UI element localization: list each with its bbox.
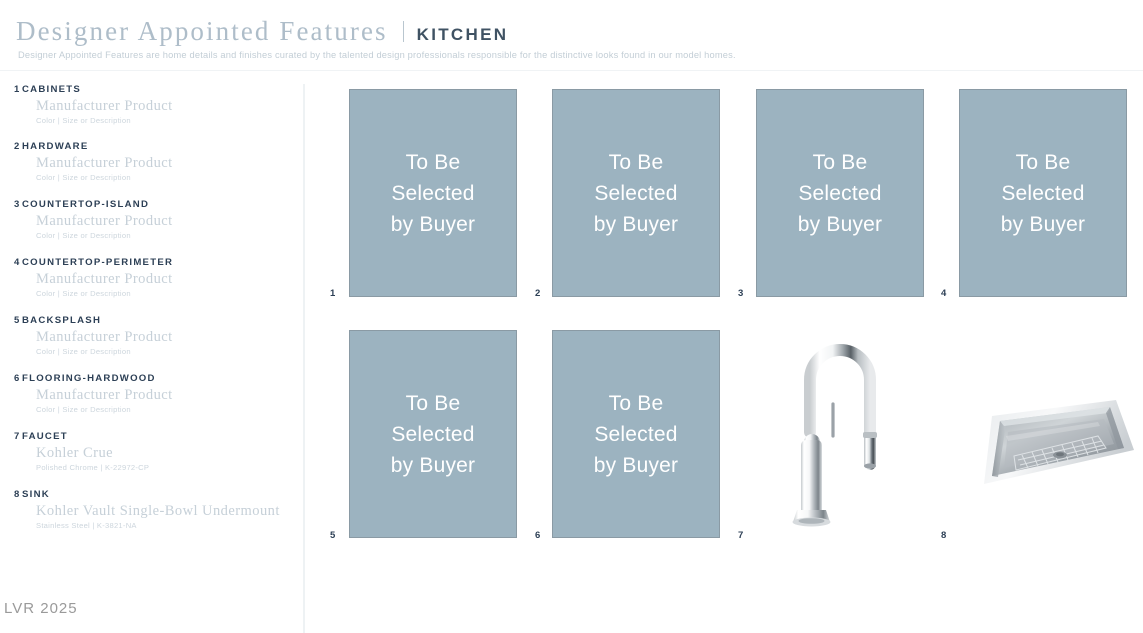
faucet-illustration bbox=[770, 332, 910, 538]
placeholder-tile-text: To BeSelectedby Buyer bbox=[798, 147, 882, 240]
tile-number-1: 1 bbox=[330, 288, 335, 299]
tile-number-5: 5 bbox=[330, 530, 335, 541]
placeholder-tile-text: To BeSelectedby Buyer bbox=[594, 147, 678, 240]
placeholder-tile-text: To BeSelectedby Buyer bbox=[1001, 147, 1085, 240]
placeholder-tile-5[interactable]: To BeSelectedby Buyer bbox=[349, 330, 517, 538]
placeholder-tile-1[interactable]: To BeSelectedby Buyer bbox=[349, 89, 517, 297]
feature-gallery: To BeSelectedby Buyer 1 To BeSelectedby … bbox=[0, 0, 1143, 633]
placeholder-tile-text: To BeSelectedby Buyer bbox=[391, 388, 475, 481]
tile-number-3: 3 bbox=[738, 288, 743, 299]
tile-number-7: 7 bbox=[738, 530, 743, 541]
tile-number-8: 8 bbox=[941, 530, 946, 541]
tile-number-4: 4 bbox=[941, 288, 946, 299]
placeholder-tile-3[interactable]: To BeSelectedby Buyer bbox=[756, 89, 924, 297]
placeholder-tile-6[interactable]: To BeSelectedby Buyer bbox=[552, 330, 720, 538]
placeholder-tile-text: To BeSelectedby Buyer bbox=[594, 388, 678, 481]
tile-number-2: 2 bbox=[535, 288, 540, 299]
footer-text: LVR 2025 bbox=[4, 600, 78, 617]
sink-illustration bbox=[948, 392, 1138, 502]
placeholder-tile-4[interactable]: To BeSelectedby Buyer bbox=[959, 89, 1127, 297]
kitchen-faucet-image[interactable] bbox=[770, 332, 910, 538]
tile-number-6: 6 bbox=[535, 530, 540, 541]
placeholder-tile-text: To BeSelectedby Buyer bbox=[391, 147, 475, 240]
placeholder-tile-2[interactable]: To BeSelectedby Buyer bbox=[552, 89, 720, 297]
kitchen-sink-image[interactable] bbox=[948, 392, 1138, 502]
